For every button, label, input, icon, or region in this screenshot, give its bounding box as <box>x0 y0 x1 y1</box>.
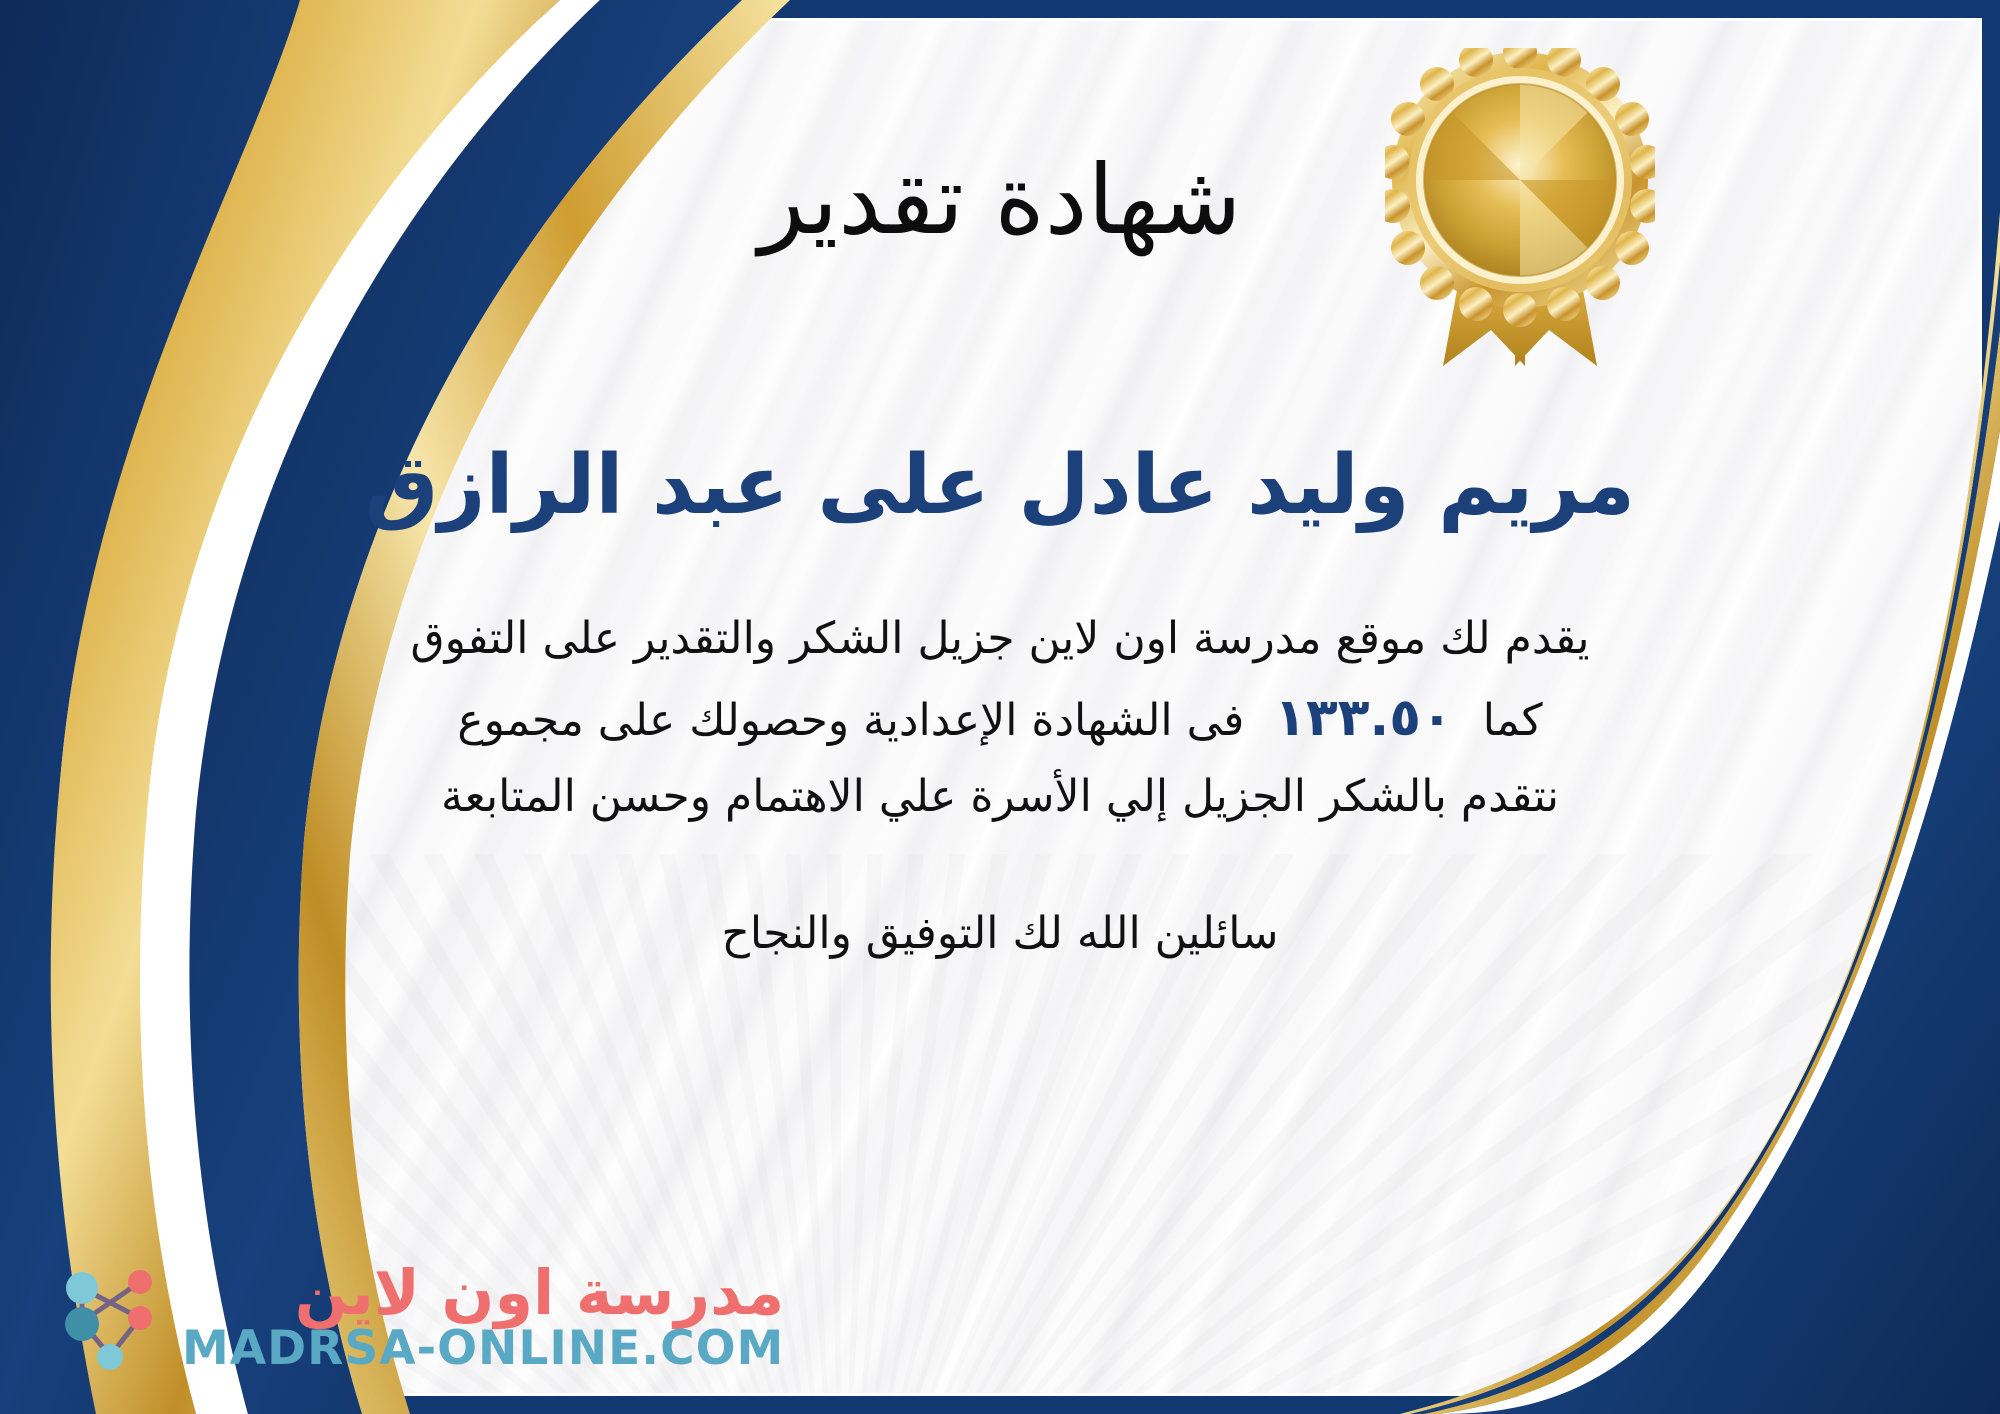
body-line-2-prefix: فى الشهادة الإعدادية وحصولك على مجموع <box>457 695 1244 746</box>
brand-logo[interactable]: مدرسة اون لاين MADRSA-ONLINE.COM <box>48 1258 784 1378</box>
logo-text: مدرسة اون لاين MADRSA-ONLINE.COM <box>182 1262 784 1373</box>
body-line-1: يقدم لك موقع مدرسة اون لاين جزيل الشكر و… <box>220 603 1780 676</box>
body-line-2: كما ١٣٣.٥٠ فى الشهادة الإعدادية وحصولك ع… <box>220 676 1780 762</box>
body-line-3: نتقدم بالشكر الجزيل إلي الأسرة علي الاهت… <box>220 761 1780 834</box>
certificate-canvas: شهادة تقدير مريم وليد عادل على عبد الراز… <box>0 0 2000 1414</box>
certificate-body: يقدم لك موقع مدرسة اون لاين جزيل الشكر و… <box>220 603 1780 834</box>
certificate-content: شهادة تقدير مريم وليد عادل على عبد الراز… <box>0 0 2000 1414</box>
score-value: ١٣٣.٥٠ <box>1258 688 1468 748</box>
network-nodes-icon <box>48 1258 168 1378</box>
closing-line: سائلين الله لك التوفيق والنجاح <box>721 908 1278 959</box>
recipient-name: مريم وليد عادل على عبد الرازق <box>365 441 1635 531</box>
page-title: شهادة تقدير <box>759 150 1242 251</box>
logo-arabic-name: مدرسة اون لاين <box>295 1262 785 1324</box>
logo-domain: MADRSA-ONLINE.COM <box>182 1324 784 1373</box>
body-line-2-suffix: كما <box>1483 695 1543 746</box>
